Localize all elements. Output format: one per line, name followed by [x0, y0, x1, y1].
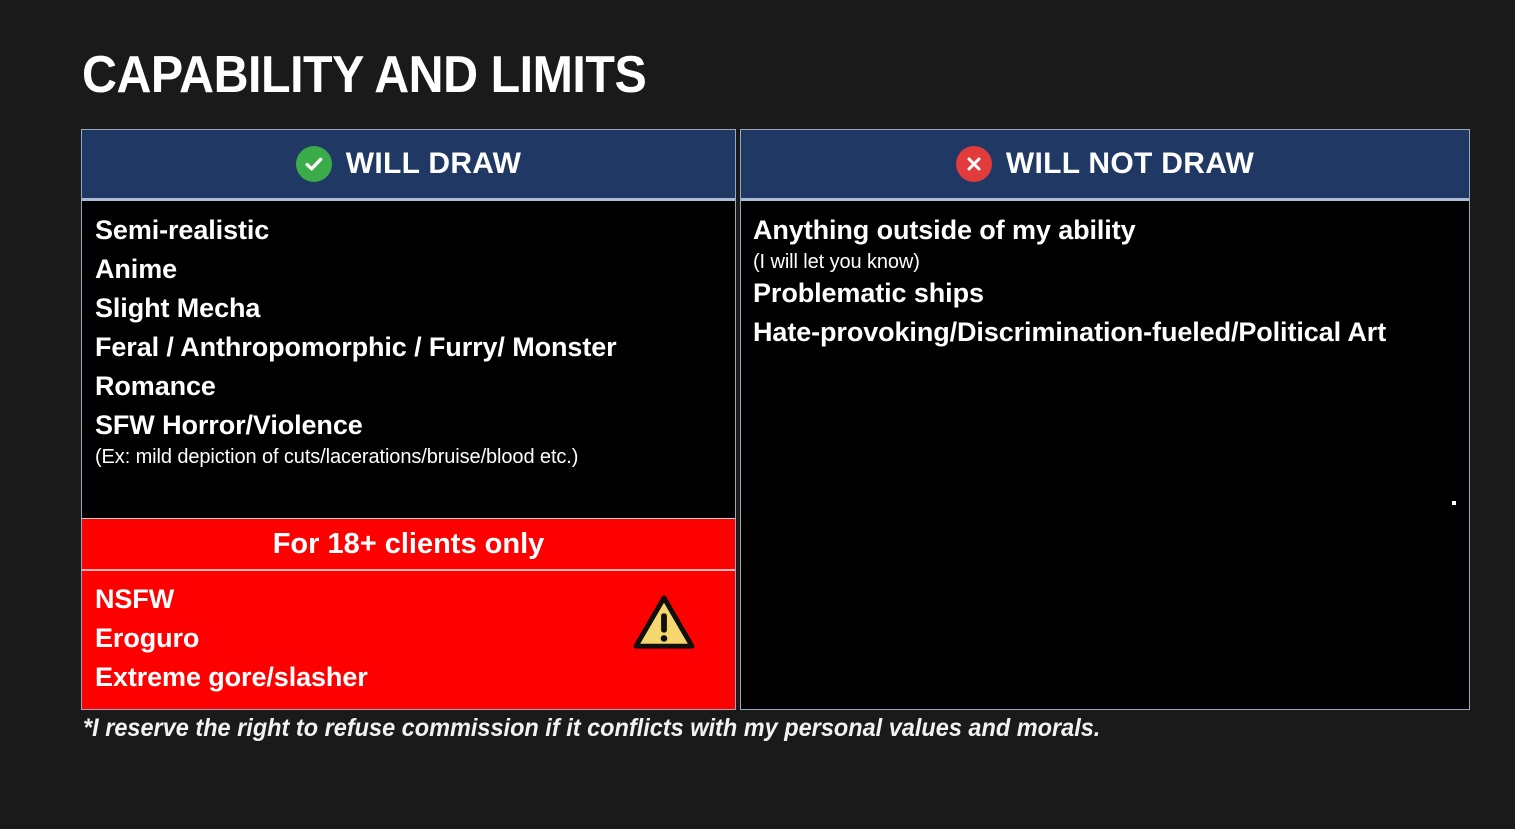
- list-item: Problematic ships: [741, 274, 1469, 313]
- list-item: Slight Mecha: [82, 289, 735, 328]
- disclaimer-note: *I reserve the right to refuse commissio…: [83, 714, 1100, 743]
- list-item: Romance: [82, 367, 735, 406]
- warning-triangle-icon: [633, 595, 695, 651]
- column-will-draw: WILL DRAW Semi-realistic Anime Slight Me…: [81, 129, 736, 710]
- adult-content-section: For 18+ clients only NSFW Eroguro Extrem…: [81, 518, 736, 710]
- capability-limits-table: WILL DRAW Semi-realistic Anime Slight Me…: [81, 129, 1470, 710]
- column-header-label-will-not-draw: WILL NOT DRAW: [1006, 147, 1254, 181]
- stray-period-mark: [1452, 501, 1456, 505]
- column-body-will-draw: Semi-realistic Anime Slight Mecha Feral …: [82, 201, 735, 518]
- list-item: SFW Horror/Violence: [82, 406, 735, 445]
- column-header-label-will-draw: WILL DRAW: [346, 147, 521, 181]
- column-body-will-not-draw: Anything outside of my ability (I will l…: [741, 201, 1469, 709]
- column-will-not-draw: WILL NOT DRAW Anything outside of my abi…: [740, 129, 1470, 710]
- adult-section-header-label: For 18+ clients only: [273, 528, 545, 561]
- list-item-note: (Ex: mild depiction of cuts/lacerations/…: [82, 445, 735, 469]
- adult-section-body: NSFW Eroguro Extreme gore/slasher: [82, 571, 735, 709]
- list-item-note: (I will let you know): [741, 250, 1469, 274]
- list-item: Extreme gore/slasher: [82, 658, 735, 697]
- check-circle-icon: [296, 146, 332, 182]
- list-item: Feral / Anthropomorphic / Furry/ Monster: [82, 328, 735, 367]
- slide-canvas: CAPABILITY AND LIMITS WILL DRAW Semi-rea…: [0, 0, 1515, 829]
- column-header-will-not-draw: WILL NOT DRAW: [741, 130, 1469, 201]
- column-header-will-draw: WILL DRAW: [82, 130, 735, 201]
- x-circle-icon: [956, 146, 992, 182]
- list-item: Anything outside of my ability: [741, 211, 1469, 250]
- list-item: Anime: [82, 250, 735, 289]
- list-item: Semi-realistic: [82, 211, 735, 250]
- adult-section-header: For 18+ clients only: [82, 519, 735, 571]
- list-item: Hate-provoking/Discrimination-fueled/Pol…: [741, 313, 1469, 352]
- page-title: CAPABILITY AND LIMITS: [82, 48, 646, 103]
